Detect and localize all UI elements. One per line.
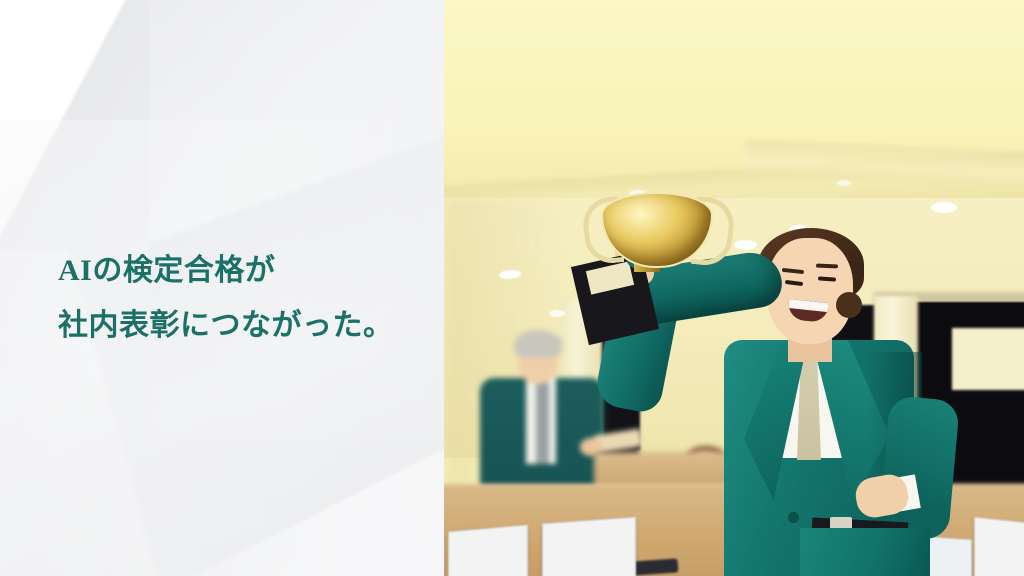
background-facet-c: [150, 0, 444, 440]
woman-jacket-button: [788, 512, 799, 523]
text-panel: AIの検定合格が 社内表彰につながった。: [0, 0, 444, 576]
ceiling-light-icon: [734, 240, 757, 250]
whiteboard: [952, 328, 1024, 390]
illustration-panel: [444, 0, 1024, 576]
woman-eyebrow-right: [816, 264, 838, 269]
headline-line-2: 社内表彰につながった。: [58, 298, 438, 353]
headline-line-1: AIの検定合格が: [58, 243, 438, 298]
background-man-hair: [514, 330, 562, 358]
woman-skirt: [800, 528, 930, 576]
woman-hair-bun: [836, 292, 862, 318]
page-title: AIの検定合格が 社内表彰につながった。: [58, 243, 438, 353]
background-man-tie: [536, 382, 549, 464]
slide-root: AIの検定合格が 社内表彰につながった。: [0, 0, 1024, 576]
woman-right-arm: [878, 395, 960, 541]
laptop: [542, 517, 636, 576]
laptop: [974, 517, 1024, 576]
ceiling-light-icon: [837, 180, 851, 186]
laptop: [448, 525, 528, 576]
ceiling-light-icon: [931, 202, 957, 213]
ceiling-light-icon: [549, 310, 565, 317]
